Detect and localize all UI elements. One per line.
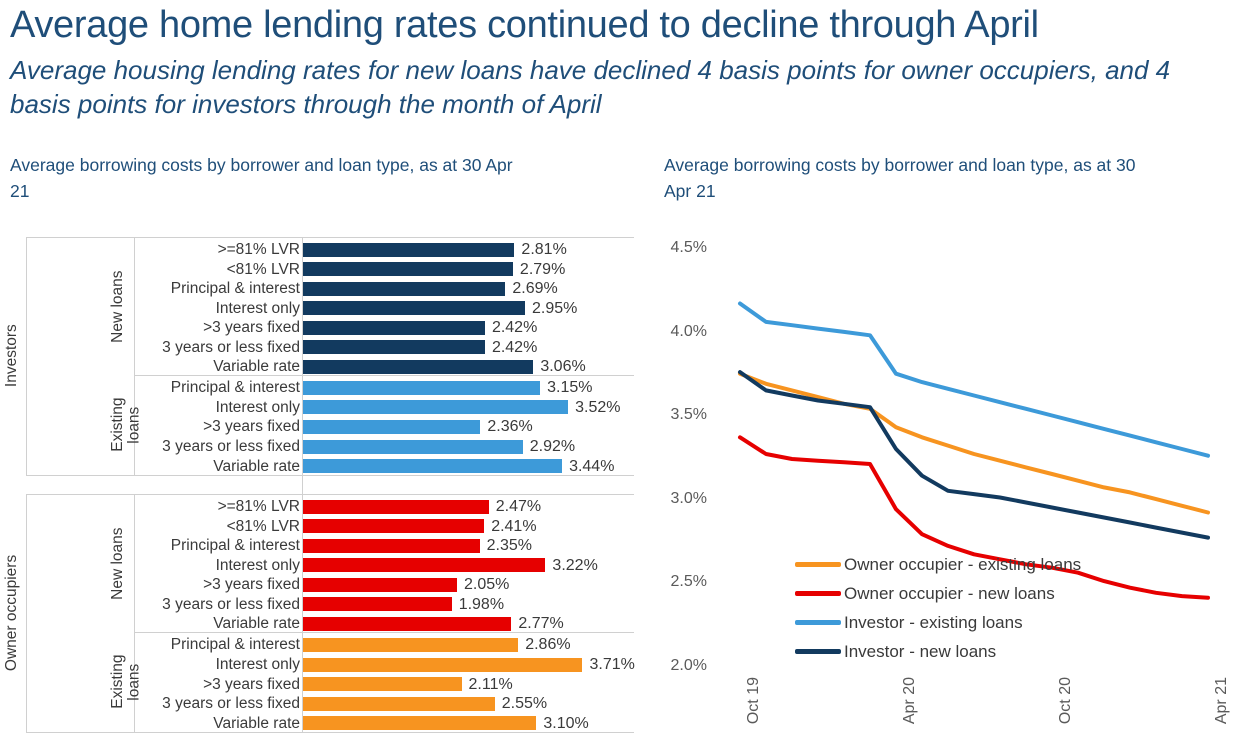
page-title: Average home lending rates continued to … [10,4,1235,47]
y-axis-tick-label: 2.0% [655,657,707,675]
bar-value-label: 2.95% [532,299,577,318]
bar-rect [302,381,540,395]
bar-category-label: <81% LVR [227,260,300,279]
x-axis-tick-label: Oct 20 [1057,677,1075,724]
bar-value-label: 2.92% [530,437,575,456]
legend-item[interactable]: Investor - existing loans [795,608,1081,637]
bar-row: >=81% LVR2.81% [0,240,660,259]
bar-rect [302,677,462,691]
bar-value-label: 2.11% [469,675,513,694]
bar-category-label: 3 years or less fixed [162,694,300,713]
bar-row: Interest only3.71% [0,655,660,674]
legend-label: Investor - existing loans [844,613,1023,633]
bar-subgroup-label: New loans [110,237,150,376]
bar-category-label: >3 years fixed [203,675,300,694]
bar-row: Variable rate3.06% [0,357,660,376]
bar-value-label: 2.86% [525,635,570,654]
bar-rect [302,420,480,434]
bar-row: Interest only3.22% [0,556,660,575]
bar-value-label: 2.42% [492,318,537,337]
bar-category-label: <81% LVR [227,517,300,536]
bar-category-label: Principal & interest [171,536,300,555]
bar-row: Principal & interest2.69% [0,279,660,298]
bar-row: Variable rate3.10% [0,714,660,733]
bar-row: <81% LVR2.41% [0,517,660,536]
bar-row: <81% LVR2.79% [0,260,660,279]
bar-category-label: 3 years or less fixed [162,338,300,357]
bar-category-label: Variable rate [213,614,300,633]
legend-item[interactable]: Owner occupier - existing loans [795,550,1081,579]
bar-category-label: Variable rate [213,357,300,376]
legend-item[interactable]: Investor - new loans [795,637,1081,666]
bar-row: >3 years fixed2.36% [0,417,660,436]
group-divider [26,732,634,733]
legend-label: Investor - new loans [844,642,996,662]
bar-row: 3 years or less fixed2.42% [0,338,660,357]
bar-rect [302,500,489,514]
bar-rect [302,539,480,553]
subgroup-divider [134,632,634,633]
bar-value-label: 2.42% [492,338,537,357]
bar-rect [302,282,505,296]
legend-swatch [795,620,841,625]
bar-value-label: 2.81% [521,240,566,259]
bar-value-label: 2.77% [518,614,563,633]
bar-subgroup-label: New loans [110,494,150,633]
bar-value-label: 3.52% [575,398,620,417]
bar-row: Principal & interest2.86% [0,635,660,654]
bar-rect [302,321,485,335]
bar-row: Interest only3.52% [0,398,660,417]
bar-group-label: Investors [4,237,20,475]
bar-rect [302,340,485,354]
bar-value-label: 1.98% [459,595,504,614]
y-axis-tick-label: 3.0% [655,490,707,508]
bar-subgroup-label: Existing loans [110,375,150,475]
bar-row: >=81% LVR2.47% [0,497,660,516]
bar-row: Variable rate3.44% [0,457,660,476]
bar-chart-title: Average borrowing costs by borrower and … [10,152,530,205]
group-divider [26,475,634,476]
group-bracket [26,237,27,475]
x-axis-tick-label: Apr 20 [901,677,919,724]
bar-category-label: 3 years or less fixed [162,595,300,614]
bar-group-label: Owner occupiers [4,494,20,732]
bar-row: >3 years fixed2.11% [0,675,660,694]
bar-row: Principal & interest3.15% [0,378,660,397]
bar-category-label: Principal & interest [171,378,300,397]
bar-value-axis [302,237,303,732]
bar-value-label: 3.71% [589,655,634,674]
bar-category-label: Interest only [216,556,300,575]
bar-category-label: >3 years fixed [203,318,300,337]
bar-category-label: 3 years or less fixed [162,437,300,456]
bar-row: 3 years or less fixed2.92% [0,437,660,456]
bar-rect [302,638,518,652]
legend-swatch [795,591,841,596]
bar-rect [302,519,484,533]
y-axis-tick-label: 4.0% [655,323,707,341]
bar-category-label: >=81% LVR [218,240,300,259]
line-chart: 2.0%2.5%3.0%3.5%4.0%4.5%Oct 19Apr 20Oct … [655,225,1238,743]
bar-row: >3 years fixed2.42% [0,318,660,337]
bar-rect [302,697,495,711]
bar-category-label: Interest only [216,398,300,417]
bar-value-label: 3.44% [569,457,614,476]
bar-row: >3 years fixed2.05% [0,575,660,594]
bar-rect [302,243,514,257]
bar-value-label: 2.41% [491,517,536,536]
bar-value-label: 2.69% [512,279,557,298]
bar-row: 3 years or less fixed2.55% [0,694,660,713]
bar-category-label: Variable rate [213,457,300,476]
bar-subgroup-label: Existing loans [110,632,150,732]
bar-category-label: Variable rate [213,714,300,733]
legend-label: Owner occupier - new loans [844,584,1055,604]
bar-rect [302,400,568,414]
line-chart-title: Average borrowing costs by borrower and … [664,152,1164,205]
y-axis-tick-label: 4.5% [655,239,707,257]
subgroup-divider [134,375,634,376]
bar-category-label: >=81% LVR [218,497,300,516]
line-series [740,304,1208,456]
bar-row: Principal & interest2.35% [0,536,660,555]
bar-rect [302,301,525,315]
x-axis-tick-label: Oct 19 [745,677,763,724]
bar-value-label: 2.79% [520,260,565,279]
chart-legend: Owner occupier - existing loansOwner occ… [795,550,1081,666]
bar-value-label: 3.06% [540,357,585,376]
group-bracket [26,494,27,732]
bar-value-label: 2.47% [496,497,541,516]
page-subtitle: Average housing lending rates for new lo… [10,53,1230,122]
bar-value-label: 3.10% [543,714,588,733]
bar-value-label: 2.36% [487,417,532,436]
bar-rect [302,658,582,672]
bar-value-label: 2.35% [487,536,532,555]
slide-root: Average home lending rates continued to … [0,0,1238,743]
legend-item[interactable]: Owner occupier - new loans [795,579,1081,608]
bar-category-label: Principal & interest [171,279,300,298]
bar-row: Interest only2.95% [0,299,660,318]
bar-category-label: >3 years fixed [203,417,300,436]
bar-rect [302,360,533,374]
bar-rect [302,617,511,631]
y-axis-tick-label: 3.5% [655,406,707,424]
bar-row: 3 years or less fixed1.98% [0,595,660,614]
bar-value-label: 3.15% [547,378,592,397]
bar-value-label: 2.05% [464,575,509,594]
legend-label: Owner occupier - existing loans [844,555,1081,575]
bar-rect [302,459,562,473]
bar-value-label: 2.55% [502,694,547,713]
y-axis-tick-label: 2.5% [655,573,707,591]
bar-rect [302,597,452,611]
bar-rect [302,262,513,276]
bar-rect [302,716,536,730]
bar-rect [302,440,523,454]
bar-rect [302,558,545,572]
bar-chart: >=81% LVR2.81%<81% LVR2.79%Principal & i… [0,232,660,732]
legend-swatch [795,649,841,654]
bar-category-label: >3 years fixed [203,575,300,594]
legend-swatch [795,562,841,567]
bar-category-label: Principal & interest [171,635,300,654]
bar-value-label: 3.22% [552,556,597,575]
bar-row: Variable rate2.77% [0,614,660,633]
x-axis-tick-label: Apr 21 [1213,677,1231,724]
bar-rect [302,578,457,592]
bar-category-label: Interest only [216,655,300,674]
bar-category-label: Interest only [216,299,300,318]
